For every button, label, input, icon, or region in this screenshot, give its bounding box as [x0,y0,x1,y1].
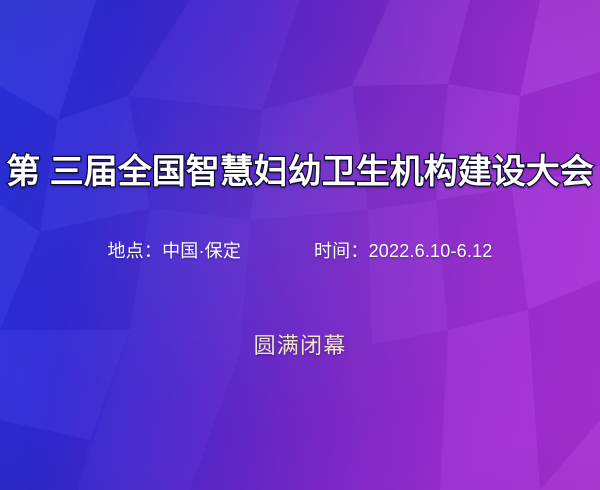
poster-content: 第 三届全国智慧妇幼卫生机构建设大会 地点：中国·保定 时间：2022.6.10… [0,0,600,490]
date-label: 时间：2022.6.10-6.12 [314,239,493,263]
status-badge: 圆满闭幕 [254,332,347,360]
poster-title-row: 第 三届全国智慧妇幼卫生机构建设大会 [0,152,600,192]
location-label: 地点：中国·保定 [107,239,241,263]
conference-poster: 第 三届全国智慧妇幼卫生机构建设大会 地点：中国·保定 时间：2022.6.10… [0,0,600,490]
poster-status-row: 圆满闭幕 [0,332,600,360]
poster-meta-row: 地点：中国·保定 时间：2022.6.10-6.12 [0,239,600,263]
page-title: 第 三届全国智慧妇幼卫生机构建设大会 [6,152,593,192]
